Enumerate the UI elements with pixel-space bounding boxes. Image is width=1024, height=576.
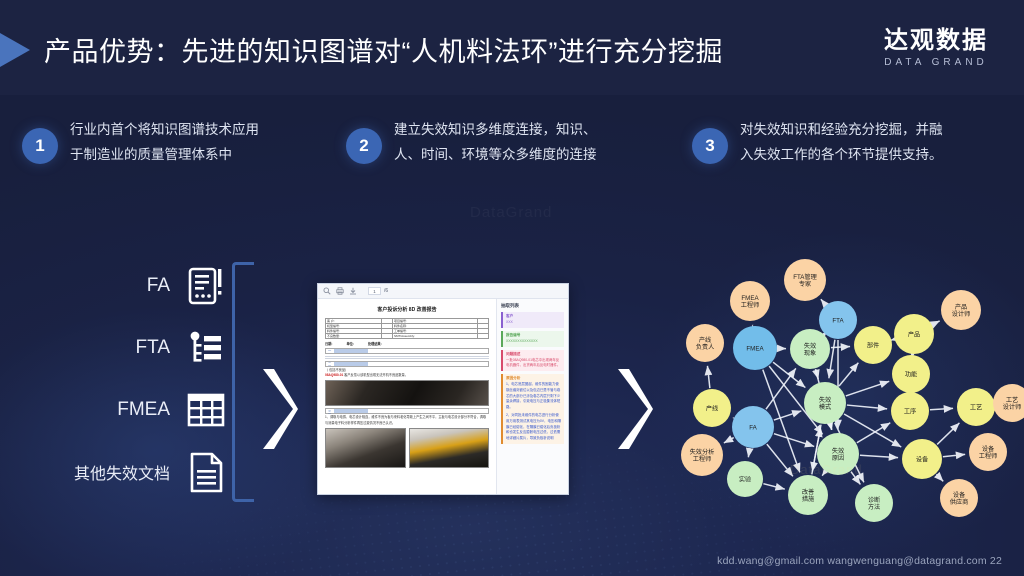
bullet-text-2: 建立失效知识多维度连接，知识、 人、时间、环境等众多维度的连接 xyxy=(394,118,597,168)
graph-edge xyxy=(839,363,858,386)
extraction-panel-title: 抽取列表 xyxy=(501,303,564,309)
graph-node-equipment[interactable]: 设备 xyxy=(902,439,942,479)
graph-edge xyxy=(748,449,749,458)
document-column-headers: 日期: 单位: 处理结果: xyxy=(325,341,489,346)
bullet-item-3: 3 对失效知识和经验充分挖掘，并融 入失效工作的各个环节提供支持。 xyxy=(692,118,943,168)
graph-node-equip_sup[interactable]: 设备供应商 xyxy=(940,479,978,517)
graph-node-equip_eng[interactable]: 设备工程师 xyxy=(969,433,1007,471)
bullet-text-3-line2: 入失效工作的各个环节提供支持。 xyxy=(740,143,943,168)
doc-type-other-label: 其他失效文档 xyxy=(74,460,170,484)
graph-node-label: 失效原因 xyxy=(832,447,844,462)
document-icon xyxy=(184,450,228,494)
graph-edge xyxy=(822,472,825,476)
document-analysis-text: 1、调取与电感、电芯设计相连，维件不良为板与来料老化导致上产生之间不平，主板与电… xyxy=(325,415,489,426)
brand-logo: 达观数据 DATA GRAND xyxy=(884,28,988,68)
graph-edge xyxy=(936,474,943,481)
document-viewer-toolbar[interactable]: 1 /6 xyxy=(318,284,568,299)
document-section-3: 三 xyxy=(325,408,489,414)
bullet-text-3-line1: 对失效知识和经验充分挖掘，并融 xyxy=(740,118,943,143)
table-row: 不良数量: SMT/Assembly: xyxy=(326,334,489,339)
graph-node-label: 失效现象 xyxy=(804,342,816,357)
page-number-input[interactable]: 1 xyxy=(368,287,381,295)
download-icon[interactable] xyxy=(349,287,357,295)
graph-node-mode[interactable]: 失效模式 xyxy=(804,382,846,424)
document-body-sentence: 客户反馈以该机型出现无法开机不良品数量。 xyxy=(344,373,408,377)
extraction-card-cause[interactable]: 原因分析 1、电芯底层圈起，维件的固能力使钢丝缠封嵌位以及包边已是不管与卷芯的大… xyxy=(501,374,564,444)
graph-node-improve[interactable]: 改善措施 xyxy=(788,475,828,515)
graph-node-prod_des[interactable]: 产品设计师 xyxy=(941,290,981,330)
doc-type-fmea-label: FMEA xyxy=(117,399,170,421)
graph-node-line[interactable]: 产线 xyxy=(693,389,731,427)
bullet-text-1: 行业内首个将知识图谱技术应用 于制造业的质量管理体系中 xyxy=(70,118,259,168)
doc-type-fmea: FMEA xyxy=(28,379,228,441)
graph-node-fa[interactable]: FA xyxy=(732,406,774,448)
graph-edge xyxy=(933,321,940,325)
document-highlight-code: 08AQ980-01 xyxy=(325,373,343,377)
doc-type-other: 其他失效文档 xyxy=(28,441,228,503)
bullet-number-3: 3 xyxy=(692,128,728,164)
section-1-number: 一 xyxy=(326,348,331,353)
graph-node-product[interactable]: 产品 xyxy=(894,314,934,354)
graph-node-label: 产品 xyxy=(908,330,920,338)
document-page-title: 客户投诉分析 8D 改善报告 xyxy=(325,306,489,313)
bullet-text-1-line2: 于制造业的质量管理体系中 xyxy=(70,143,259,168)
graph-node-label: FMEA xyxy=(746,345,764,352)
extraction-card-value: 1、电芯底层圈起，维件的固能力使钢丝缠封嵌位以及包边已是不管与卷芯的大部分已涉及… xyxy=(506,382,561,411)
graph-edge xyxy=(829,340,835,379)
extraction-card-value: 一批08AQ980-01电芯中出现两年反电机器件，出货两年后反电时器件。 xyxy=(506,358,561,370)
graph-edge xyxy=(724,438,734,443)
graph-node-part[interactable]: 部件 xyxy=(854,326,892,364)
section-3-number: 三 xyxy=(326,409,331,414)
document-body-text: 08AQ980-01 客户反馈以该机型出现无法开机不良品数量。 xyxy=(325,373,489,378)
graph-node-process[interactable]: 工序 xyxy=(891,392,929,430)
document-type-list: FA FTA xyxy=(28,255,228,503)
tree-list-icon xyxy=(184,326,228,370)
footer-contact: kdd.wang@gmail.com wangwenguang@datagran… xyxy=(717,555,1002,567)
doc-type-fta-label: FTA xyxy=(136,337,170,359)
bullet-text-2-line1: 建立失效知识多维度连接，知识、 xyxy=(394,118,597,143)
document-photo-component xyxy=(325,428,406,468)
graph-node-label: FA xyxy=(749,424,757,431)
knowledge-graph[interactable]: FTA管理专家FMEA工程师产线负责人FTAFMEAFA失效现象部件产品产品设计… xyxy=(660,255,1024,535)
graph-node-craft_des[interactable]: 工艺设计师 xyxy=(993,384,1024,422)
graph-node-label: 设备 xyxy=(916,455,929,463)
graph-node-fta[interactable]: FTA xyxy=(819,301,857,339)
graph-node-function[interactable]: 功能 xyxy=(892,355,930,393)
bullet-item-2: 2 建立失效知识多维度连接，知识、 人、时间、环境等众多维度的连接 xyxy=(346,118,597,168)
knowledge-graph-canvas[interactable]: FTA管理专家FMEA工程师产线负责人FTAFMEAFA失效现象部件产品产品设计… xyxy=(660,255,1024,535)
table-cell-value xyxy=(382,334,393,339)
extraction-card-value-2: 2、对同批未维件的电芯进行分析使用万用表测试其电压为0V，电压和隔膜已经熔化，在… xyxy=(506,413,561,442)
bullet-text-2-line2: 人、时间、环境等众多维度的连接 xyxy=(394,143,597,168)
graph-node-line_owner[interactable]: 产线负责人 xyxy=(686,324,724,362)
extraction-card-title: 问题描述 xyxy=(506,352,561,357)
graph-node-label: 实验 xyxy=(739,475,752,483)
divider xyxy=(325,356,489,357)
extraction-card-problem[interactable]: 问题描述 一批08AQ980-01电芯中出现两年反电机器件，出货两年后反电时器件… xyxy=(501,350,564,372)
chevron-right-icon-2 xyxy=(613,366,653,452)
document-photo-row xyxy=(325,428,489,468)
graph-node-label: 工序 xyxy=(904,407,916,415)
graph-edge xyxy=(860,455,898,457)
page-title: 产品优势：先进的知识图谱对“人机料法环”进行充分挖掘 xyxy=(44,30,723,69)
bullet-number-2: 2 xyxy=(346,128,382,164)
document-page[interactable]: 客户投诉分析 8D 改善报告 客 户: 项目编号: 机型编号: 料件名称: 料件… xyxy=(318,299,496,494)
graph-edge xyxy=(707,366,709,388)
graph-node-fa_eng[interactable]: 失效分析工程师 xyxy=(681,434,723,476)
table-cell-label: 不良数量: xyxy=(326,334,382,339)
bullet-item-1: 1 行业内首个将知识图谱技术应用 于制造业的质量管理体系中 xyxy=(22,118,259,168)
triangle-right-icon xyxy=(0,33,30,67)
table-grid-icon xyxy=(184,388,228,432)
bullet-text-3: 对失效知识和经验充分挖掘，并融 入失效工作的各个环节提供支持。 xyxy=(740,118,943,168)
extraction-card-customer[interactable]: 客户 XXX xyxy=(501,312,564,328)
graph-node-diagnosis[interactable]: 诊断方法 xyxy=(855,484,893,522)
graph-node-fmea_eng[interactable]: FMEA工程师 xyxy=(730,281,770,321)
extraction-card-report-no[interactable]: 报告编号 XXXXXXXXXXXXXX xyxy=(501,331,564,347)
extraction-card-title: 原因分析 xyxy=(506,376,561,381)
graph-node-label: 部件 xyxy=(867,341,879,349)
graph-node-cause[interactable]: 失效原因 xyxy=(817,433,859,475)
doc-type-fta: FTA xyxy=(28,317,228,379)
document-photo-multimeter xyxy=(409,428,490,468)
graph-node-fmea[interactable]: FMEA xyxy=(733,326,777,370)
graph-node-fta_expert[interactable]: FTA管理专家 xyxy=(784,259,826,301)
graph-edge xyxy=(930,408,953,409)
column-header-result: 处理结果: xyxy=(368,341,382,346)
table-cell-value xyxy=(478,334,489,339)
graph-node-label: 失效分析工程师 xyxy=(690,448,715,463)
document-section-1: 一 xyxy=(325,348,489,354)
graph-node-experiment[interactable]: 实验 xyxy=(727,461,763,497)
graph-node-label: FTA xyxy=(832,317,844,324)
graph-node-label: 改善措施 xyxy=(802,488,814,503)
table-cell-label: SMT/Assembly: xyxy=(392,334,477,339)
report-lines-icon xyxy=(184,264,228,308)
page-indicator[interactable]: 1 /6 xyxy=(368,287,388,295)
curly-brace-icon xyxy=(232,262,254,502)
bullet-text-1-line1: 行业内首个将知识图谱技术应用 xyxy=(70,118,259,143)
graph-edge xyxy=(774,434,814,447)
graph-edge xyxy=(937,423,959,444)
extraction-card-title: 报告编号 xyxy=(506,333,561,338)
doc-type-fa-label: FA xyxy=(147,275,170,297)
graph-node-label: 失效模式 xyxy=(819,396,831,411)
extraction-card-title: 客户 xyxy=(506,314,561,319)
graph-node-label: 功能 xyxy=(905,370,917,378)
graph-edge xyxy=(943,454,965,456)
extraction-card-value: XXX xyxy=(506,320,561,326)
graph-node-label: 诊断方法 xyxy=(868,496,880,511)
page-total-label: /6 xyxy=(384,288,388,294)
column-header-date: 日期: xyxy=(325,341,332,346)
section-2-number: 二 xyxy=(326,361,331,366)
graph-edge xyxy=(857,423,890,443)
graph-edge xyxy=(847,405,887,409)
graph-edge xyxy=(763,484,784,489)
divider xyxy=(325,358,489,359)
print-icon[interactable] xyxy=(336,287,344,295)
doc-type-fa: FA xyxy=(28,255,228,317)
graph-node-label: 工艺 xyxy=(970,403,982,411)
document-photo-battery xyxy=(325,380,489,406)
graph-node-label: FMEA工程师 xyxy=(741,295,760,309)
logo-chinese: 达观数据 xyxy=(884,28,988,54)
bullet-list: 1 行业内首个将知识图谱技术应用 于制造业的质量管理体系中 2 建立失效知识多维… xyxy=(0,118,1024,194)
graph-node-label: 产线 xyxy=(706,404,718,412)
section-3-tag xyxy=(334,409,368,413)
logo-english: DATA GRAND xyxy=(884,57,988,68)
knowledge-graph-nodes[interactable]: FTA管理专家FMEA工程师产线负责人FTAFMEAFA失效现象部件产品产品设计… xyxy=(681,259,1024,522)
document-info-table: 客 户: 项目编号: 机型编号: 料件名称: 料件编号: 工单编号: 不良数量:… xyxy=(325,318,489,339)
extraction-card-value: XXXXXXXXXXXXXX xyxy=(506,339,561,345)
bullet-number-1: 1 xyxy=(22,128,58,164)
search-icon[interactable] xyxy=(323,287,331,295)
section-2-tag xyxy=(334,362,368,366)
graph-edge xyxy=(767,444,793,476)
column-header-unit: 单位: xyxy=(346,341,353,346)
section-1-tag xyxy=(334,349,368,353)
graph-edge xyxy=(821,299,825,304)
extraction-panel[interactable]: 抽取列表 客户 XXX 报告编号 XXXXXXXXXXXXXX 问题描述 一批0… xyxy=(496,299,568,494)
chevron-right-icon-1 xyxy=(258,366,298,452)
graph-node-phenomenon[interactable]: 失效现象 xyxy=(790,329,830,369)
document-viewer-body: 客户投诉分析 8D 改善报告 客 户: 项目编号: 机型编号: 料件名称: 料件… xyxy=(318,299,568,494)
document-section-2: 二 xyxy=(325,361,489,367)
document-viewer-screenshot[interactable]: 1 /6 客户投诉分析 8D 改善报告 客 户: 项目编号: 机型编号: 料件名… xyxy=(317,283,569,495)
graph-edge xyxy=(846,381,889,396)
graph-node-craft[interactable]: 工艺 xyxy=(957,388,995,426)
